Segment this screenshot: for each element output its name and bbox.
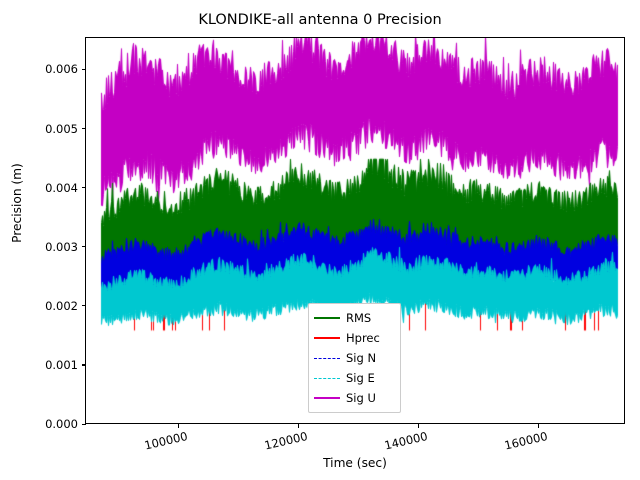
legend-line-icon [314, 352, 340, 364]
legend-item-sig-u[interactable]: Sig U [314, 388, 395, 408]
legend-line-icon [314, 332, 340, 344]
legend-line-icon [314, 312, 340, 324]
x-tick-label: 160000 [501, 430, 549, 453]
legend-item-sig-n[interactable]: Sig N [314, 348, 395, 368]
legend-label: Sig E [346, 372, 375, 385]
y-tick-label: 0.000 [45, 418, 78, 430]
chart-legend[interactable]: RMSHprecSig NSig ESig U [308, 303, 401, 413]
x-tick-mark [298, 424, 299, 428]
legend-label: RMS [346, 312, 371, 325]
y-tick-label: 0.002 [45, 300, 78, 312]
legend-item-sig-e[interactable]: Sig E [314, 368, 395, 388]
legend-line-icon [314, 392, 340, 404]
legend-label: Sig U [346, 392, 376, 405]
legend-line-icon [314, 372, 340, 384]
y-tick-label: 0.006 [45, 63, 78, 75]
x-tick-mark [178, 424, 179, 428]
y-axis-tick-labels: 0.0000.0010.0020.0030.0040.0050.006 [0, 0, 78, 480]
legend-item-rms[interactable]: RMS [314, 308, 395, 328]
x-tick-label: 120000 [261, 430, 309, 453]
legend-item-hprec[interactable]: Hprec [314, 328, 395, 348]
x-tick-mark [538, 424, 539, 428]
y-tick-label: 0.003 [45, 241, 78, 253]
x-tick-mark [418, 424, 419, 428]
matplotlib-figure: KLONDIKE-all antenna 0 Precision Precisi… [0, 0, 640, 480]
y-tick-label: 0.001 [45, 359, 78, 371]
legend-label: Hprec [346, 332, 380, 345]
y-tick-label: 0.005 [45, 123, 78, 135]
x-axis-label: Time (sec) [85, 456, 625, 470]
y-tick-label: 0.004 [45, 182, 78, 194]
legend-label: Sig N [346, 352, 376, 365]
x-tick-label: 140000 [381, 430, 429, 453]
x-tick-label: 100000 [141, 430, 189, 453]
chart-title: KLONDIKE-all antenna 0 Precision [0, 12, 640, 29]
